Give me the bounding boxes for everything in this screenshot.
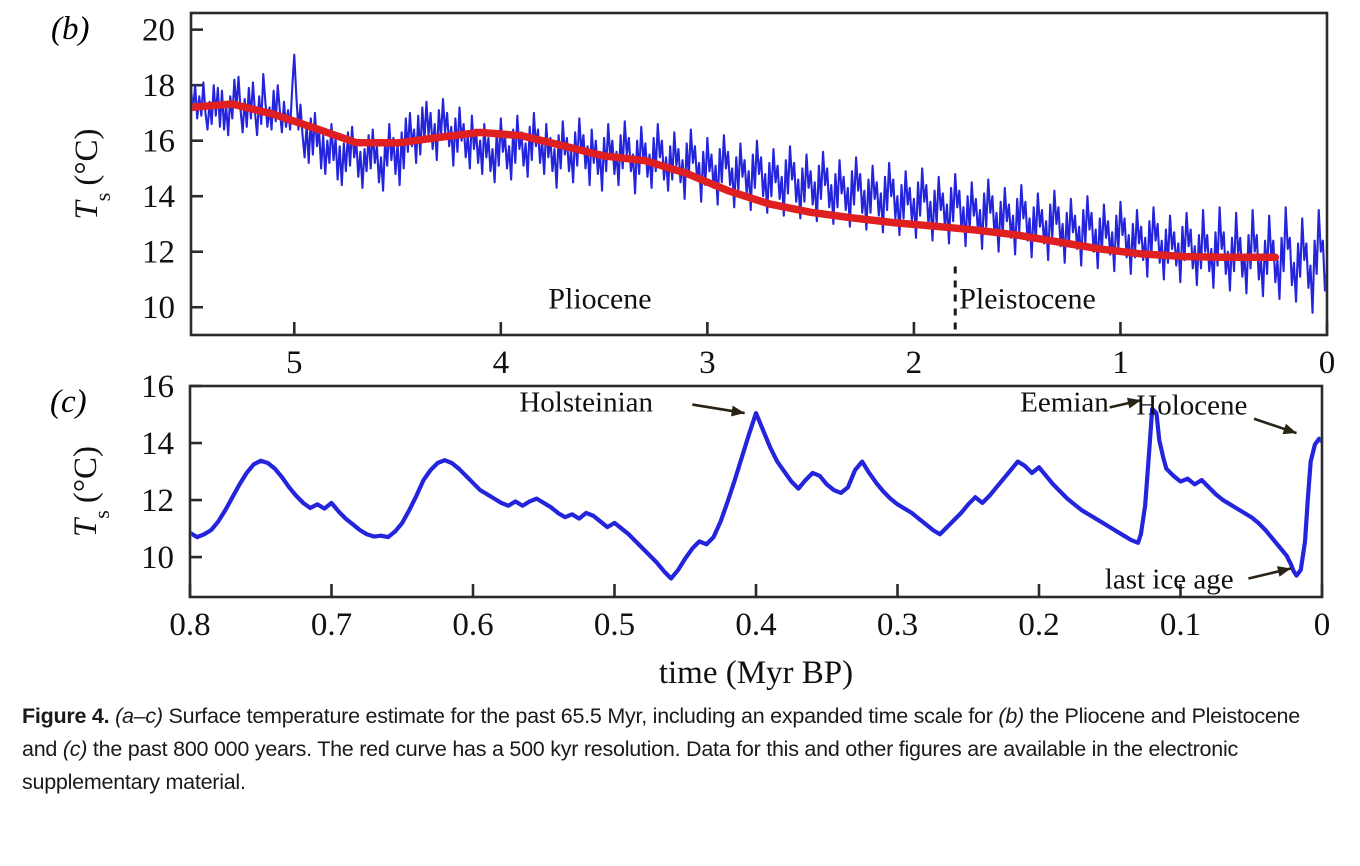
y-tick-label: 10	[141, 540, 174, 576]
panel-c: 101214160.80.70.60.50.40.30.20.10Holstei…	[50, 369, 1330, 691]
y-tick-label: 18	[142, 68, 175, 104]
caption-panel-range: (a–c)	[115, 704, 163, 728]
curves	[191, 55, 1327, 313]
annotation-last-ice-age: last ice age	[1105, 563, 1234, 595]
x-tick-label: 1	[1112, 345, 1129, 381]
caption-figure-number: Figure 4.	[22, 704, 109, 728]
annotation-holocene-arrowhead	[1283, 424, 1297, 434]
y-axis-title-panel-c: Ts(°C)	[68, 446, 114, 537]
caption-body-1: Surface temperature estimate for the pas…	[163, 704, 999, 728]
x-tick-label: 0.1	[1160, 607, 1201, 643]
x-tick-label: 0.3	[877, 607, 918, 643]
y-tick-label: 10	[142, 290, 175, 326]
x-tick-label: 2	[906, 345, 923, 381]
x-tick-label: 0.2	[1018, 607, 1059, 643]
x-tick-label: 0.6	[452, 607, 493, 643]
x-tick-label: 3	[699, 345, 716, 381]
x-tick-label: 4	[493, 345, 510, 381]
y-axis-title-panel-b: Ts(°C)	[69, 128, 115, 219]
x-tick-label: 0	[1319, 345, 1336, 381]
x-tick-label: 0.7	[311, 607, 352, 643]
x-tick-label: 0.4	[735, 607, 776, 643]
epoch-pleistocene: Pleistocene	[959, 283, 1096, 316]
figure-root: 101214161820543210PliocenePleistocene(b)…	[0, 0, 1360, 866]
panel-letter-panel-c: (c)	[50, 384, 87, 420]
annotation-holsteinian: Holsteinian	[519, 387, 653, 419]
annotation-holocene: Holocene	[1136, 390, 1247, 422]
caption-panel-c-ref: (c)	[63, 737, 87, 761]
x-tick-label: 5	[286, 345, 303, 381]
x-tick-label: 0.8	[169, 607, 210, 643]
panel-letter-panel-b: (b)	[51, 11, 89, 47]
y-tick-label: 16	[142, 124, 175, 160]
annotation-holsteinian-arrowhead	[731, 406, 745, 417]
proxy-curve	[191, 55, 1327, 313]
svg-text:Ts(°C): Ts(°C)	[69, 128, 115, 219]
x-tick-label: 0.5	[594, 607, 635, 643]
y-tick-label: 16	[141, 369, 174, 405]
panel-b: 101214161820543210PliocenePleistocene(b)…	[51, 11, 1335, 381]
y-tick-label: 12	[142, 235, 175, 271]
x-axis-title-panel-c: time (Myr BP)	[659, 655, 853, 691]
proxy-curve	[190, 409, 1322, 579]
y-tick-label: 20	[142, 13, 175, 49]
curves	[190, 409, 1322, 579]
y-tick-label: 12	[141, 483, 174, 519]
y-tick-label: 14	[141, 426, 174, 462]
caption-body-3: the past 800 000 years. The red curve ha…	[22, 737, 1238, 794]
epoch-pliocene: Pliocene	[548, 283, 651, 316]
annotation-eemian: Eemian	[1020, 387, 1109, 419]
y-tick-label: 14	[142, 179, 175, 215]
x-tick-label: 0	[1314, 607, 1331, 643]
caption-panel-b-ref: (b)	[998, 704, 1024, 728]
svg-text:Ts(°C): Ts(°C)	[68, 446, 114, 537]
figure-caption: Figure 4. (a–c) Surface temperature esti…	[22, 700, 1338, 799]
